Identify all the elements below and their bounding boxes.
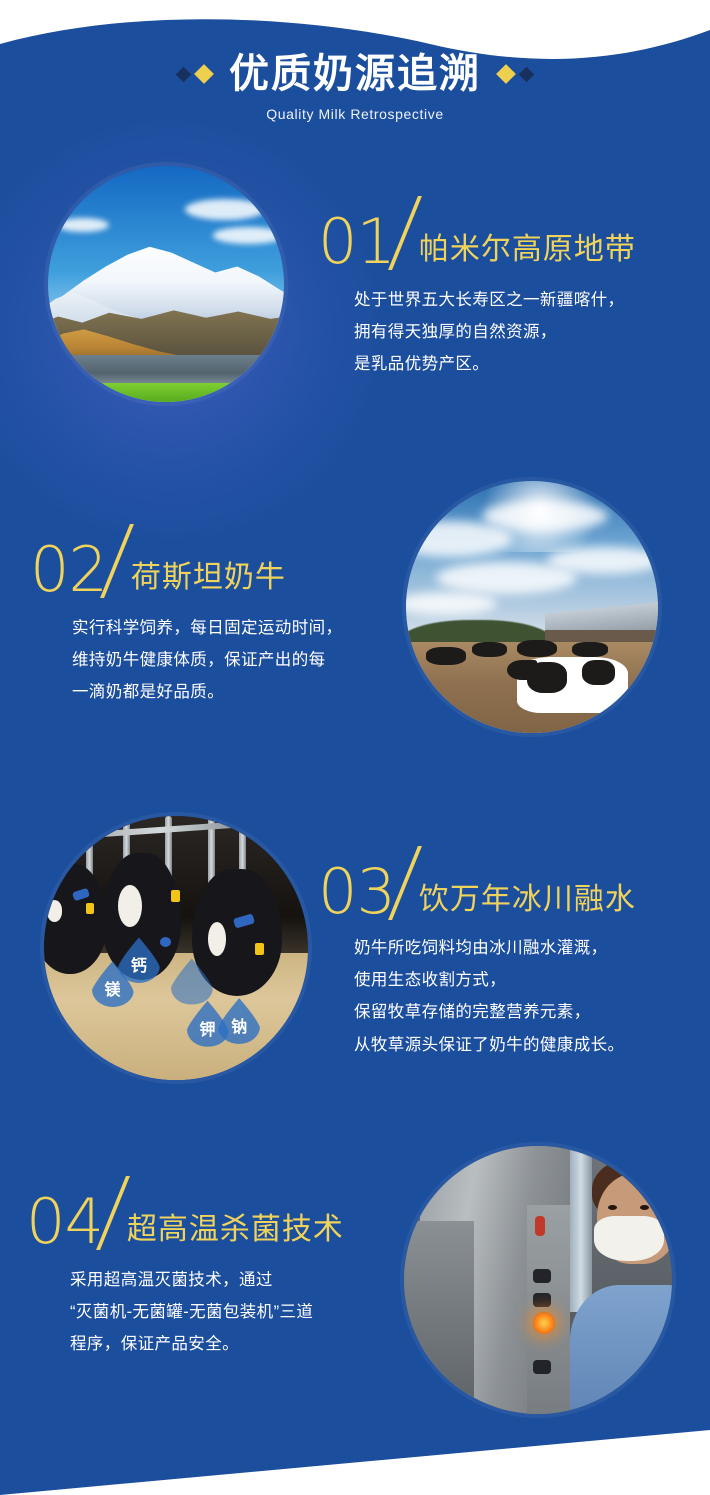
section-03-line-2: 使用生态收割方式，	[354, 964, 636, 996]
section-02-number: 02	[30, 541, 107, 598]
section-04-line-2: “灭菌机-无菌罐-无菌包装机”三道	[70, 1296, 344, 1328]
section-01-line-3: 是乳品优势产区。	[354, 348, 636, 380]
feeding-cow-face-white	[208, 922, 226, 956]
factory-knob	[533, 1360, 551, 1374]
pasture-cow-far	[572, 642, 607, 657]
photo-pamir-plateau	[48, 166, 284, 402]
factory-knob	[533, 1269, 551, 1283]
title-row: 优质奶源追溯	[0, 52, 710, 96]
section-01-heading: 01 帕米尔高原地带	[318, 196, 636, 270]
pasture-cow-far	[426, 647, 466, 665]
section-04-number: 04	[26, 1193, 103, 1250]
pasture-cow-front-spot	[582, 660, 615, 685]
droplet-label: 钾	[200, 1016, 216, 1040]
page-header: 优质奶源追溯 Quality Milk Retrospective	[0, 52, 710, 122]
section-04: 04 超高温杀菌技术 采用超高温灭菌技术，通过 “灭菌机-无菌罐-无菌包装机”三…	[26, 1176, 344, 1361]
droplet-label: 钠	[231, 1013, 247, 1037]
factory-knob	[533, 1293, 551, 1307]
pasture-cow-far	[517, 640, 557, 658]
photo-cows-feeding: 镁 钙 钾 钠	[44, 816, 308, 1080]
feeding-ear-tag-yellow	[86, 903, 94, 914]
section-03-number: 03	[318, 863, 395, 920]
section-01: 01 帕米尔高原地带 处于世界五大长寿区之一新疆喀什， 拥有得天独厚的自然资源，…	[318, 196, 636, 381]
section-03-title: 饮万年冰川融水	[419, 874, 636, 920]
section-02-line-3: 一滴奶都是好品质。	[72, 676, 342, 708]
droplet-label: 镁	[105, 976, 121, 1000]
section-03-line-4: 从牧草源头保证了奶牛的健康成长。	[354, 1029, 636, 1061]
worker-face-mask	[594, 1216, 664, 1262]
worker-eye	[608, 1205, 617, 1210]
factory-red-switch	[535, 1216, 545, 1236]
section-02-description: 实行科学饲养，每日固定运动时间， 维持奶牛健康体质，保证产出的每 一滴奶都是好品…	[72, 612, 342, 709]
section-03: 03 饮万年冰川融水 奶牛所吃饲料均由冰川融水灌溉， 使用生态收割方式， 保留牧…	[318, 846, 636, 1061]
diamond-gold-left-icon	[194, 64, 214, 84]
section-02-title: 荷斯坦奶牛	[131, 552, 286, 598]
section-01-line-2: 拥有得天独厚的自然资源，	[354, 316, 636, 348]
photo-holstein-pasture	[406, 481, 658, 733]
feeding-ear-tag-yellow	[255, 943, 264, 955]
pasture-cloud	[406, 592, 497, 615]
pasture-cloud	[406, 521, 512, 556]
section-02: 02 荷斯坦奶牛 实行科学饲养，每日固定运动时间， 维持奶牛健康体质，保证产出的…	[30, 524, 342, 709]
diamond-navy-left-outer-icon	[176, 66, 192, 82]
pasture-cow-far	[472, 642, 507, 657]
droplet-label: 钙	[131, 952, 147, 976]
section-01-line-1: 处于世界五大长寿区之一新疆喀什，	[354, 284, 636, 316]
section-01-description: 处于世界五大长寿区之一新疆喀什， 拥有得天独厚的自然资源， 是乳品优势产区。	[354, 284, 636, 381]
section-04-line-3: 程序，保证产品安全。	[70, 1328, 344, 1360]
mountain-cloud	[213, 227, 284, 244]
worker-uniform	[570, 1285, 672, 1414]
section-02-line-1: 实行科学饲养，每日固定运动时间，	[72, 612, 342, 644]
feeding-cow-face-white	[118, 885, 142, 927]
factory-indicator-lamp	[533, 1312, 555, 1334]
section-04-line-1: 采用超高温灭菌技术，通过	[70, 1264, 344, 1296]
factory-control-panel	[527, 1205, 570, 1414]
section-03-description: 奶牛所吃饲料均由冰川融水灌溉， 使用生态收割方式， 保留牧草存储的完整营养元素，…	[354, 932, 636, 1061]
section-02-line-2: 维持奶牛健康体质，保证产出的每	[72, 644, 342, 676]
section-03-line-3: 保留牧草存储的完整营养元素，	[354, 996, 636, 1028]
mountain-lake	[48, 355, 284, 386]
section-01-title: 帕米尔高原地带	[419, 224, 636, 270]
pasture-cow-front-head	[507, 660, 537, 680]
factory-machine-lower	[404, 1221, 474, 1414]
poster-page: 优质奶源追溯 Quality Milk Retrospective 01 帕米尔…	[0, 0, 710, 1495]
section-03-line-1: 奶牛所吃饲料均由冰川融水灌溉，	[354, 932, 636, 964]
feeding-ear-tag-yellow	[171, 890, 180, 902]
page-title: 优质奶源追溯	[229, 52, 481, 96]
section-02-heading: 02 荷斯坦奶牛	[30, 524, 342, 598]
section-01-number: 01	[318, 213, 395, 270]
worker-eye	[640, 1205, 649, 1210]
pasture-cloud	[547, 547, 658, 575]
section-03-heading: 03 饮万年冰川融水	[318, 846, 636, 920]
photo-factory-worker	[404, 1146, 672, 1414]
mountain-grass	[48, 383, 284, 402]
diamond-navy-right-outer-icon	[519, 66, 535, 82]
feeding-cow-face-white	[47, 900, 63, 921]
section-04-heading: 04 超高温杀菌技术	[26, 1176, 344, 1250]
diamond-gold-right-icon	[496, 64, 516, 84]
page-subtitle: Quality Milk Retrospective	[0, 106, 710, 122]
section-04-description: 采用超高温灭菌技术，通过 “灭菌机-无菌罐-无菌包装机”三道 程序，保证产品安全…	[70, 1264, 344, 1361]
factory-pipe	[570, 1146, 591, 1312]
section-04-title: 超高温杀菌技术	[127, 1204, 344, 1250]
